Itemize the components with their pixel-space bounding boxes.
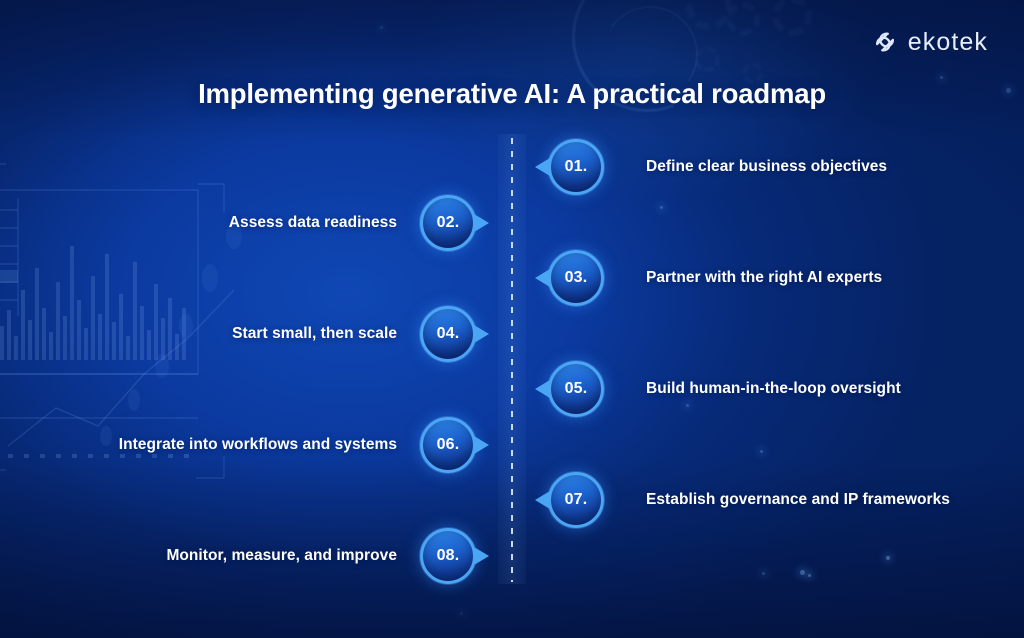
step-number: 04. [437, 326, 460, 342]
step-label: Define clear business objectives [646, 158, 887, 176]
roadmap-step-08[interactable]: Monitor, measure, and improve 08. [166, 528, 476, 584]
roadmap-step-02[interactable]: Assess data readiness 02. [229, 195, 476, 251]
step-badge[interactable]: 01. [548, 139, 604, 195]
roadmap-step-07[interactable]: 07. Establish governance and IP framewor… [548, 472, 950, 528]
step-label: Establish governance and IP frameworks [646, 491, 950, 509]
step-badge[interactable]: 02. [420, 195, 476, 251]
roadmap-step-05[interactable]: 05. Build human-in-the-loop oversight [548, 361, 901, 417]
step-label: Build human-in-the-loop oversight [646, 380, 901, 398]
roadmap-step-04[interactable]: Start small, then scale 04. [232, 306, 476, 362]
roadmap-step-01[interactable]: 01. Define clear business objectives [548, 139, 887, 195]
ekotek-interlocking-loops-icon [871, 28, 899, 56]
step-label: Assess data readiness [229, 214, 397, 232]
step-badge[interactable]: 08. [420, 528, 476, 584]
roadmap-step-06[interactable]: Integrate into workflows and systems 06. [119, 417, 476, 473]
step-number: 07. [565, 492, 588, 508]
step-badge[interactable]: 07. [548, 472, 604, 528]
page-title: Implementing generative AI: A practical … [0, 78, 1024, 110]
step-badge[interactable]: 04. [420, 306, 476, 362]
step-number: 05. [565, 381, 588, 397]
brand-logo[interactable]: ekotek [871, 28, 988, 56]
step-label: Monitor, measure, and improve [166, 547, 397, 565]
step-badge[interactable]: 03. [548, 250, 604, 306]
step-label: Integrate into workflows and systems [119, 436, 397, 454]
brand-name: ekotek [908, 30, 988, 55]
step-number: 01. [565, 159, 588, 175]
timeline-dashed-divider [511, 138, 513, 582]
step-label: Partner with the right AI experts [646, 269, 882, 287]
roadmap-step-03[interactable]: 03. Partner with the right AI experts [548, 250, 882, 306]
step-number: 03. [565, 270, 588, 286]
step-badge[interactable]: 05. [548, 361, 604, 417]
step-number: 06. [437, 437, 460, 453]
step-number: 02. [437, 215, 460, 231]
infographic-slide: ekotek Implementing generative AI: A pra… [0, 0, 1024, 638]
step-badge[interactable]: 06. [420, 417, 476, 473]
step-number: 08. [437, 548, 460, 564]
step-label: Start small, then scale [232, 325, 397, 343]
